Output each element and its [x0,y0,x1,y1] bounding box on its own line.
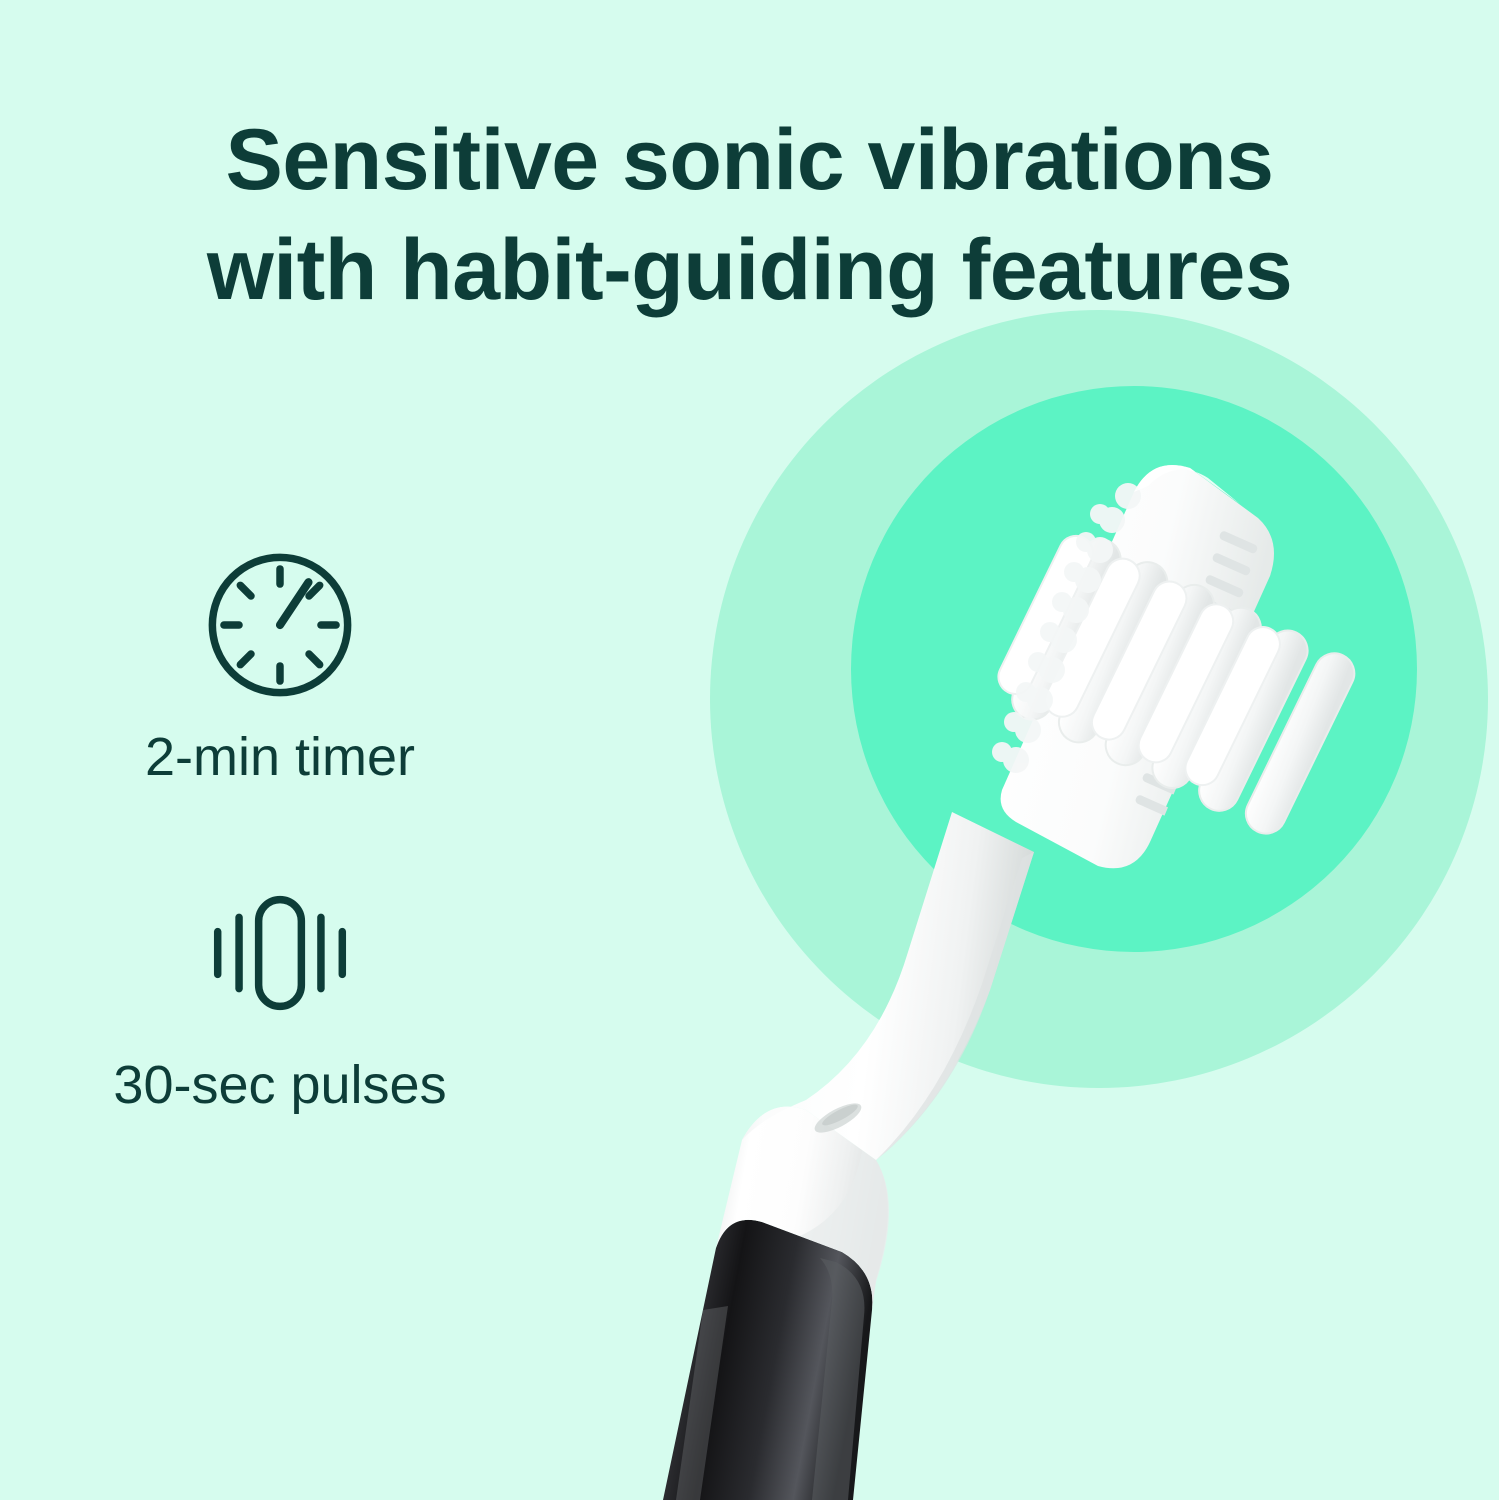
feature-list: 2-min timer 30-sec pulses [0,530,660,1186]
feature-label-timer: 2-min timer [145,726,415,788]
feature-label-pulses: 30-sec pulses [113,1054,446,1116]
feature-item-pulses: 30-sec pulses [0,858,560,1116]
marketing-image: Sensitive sonic vibrations with habit-gu… [0,0,1499,1500]
brush-neck [716,1107,889,1310]
vibration-icon [185,858,375,1048]
brush-handle [663,1220,872,1500]
clock-icon [185,530,375,720]
background-circle-inner [851,386,1417,952]
page-title: Sensitive sonic vibrations with habit-gu… [0,105,1499,325]
feature-item-timer: 2-min timer [0,530,560,788]
